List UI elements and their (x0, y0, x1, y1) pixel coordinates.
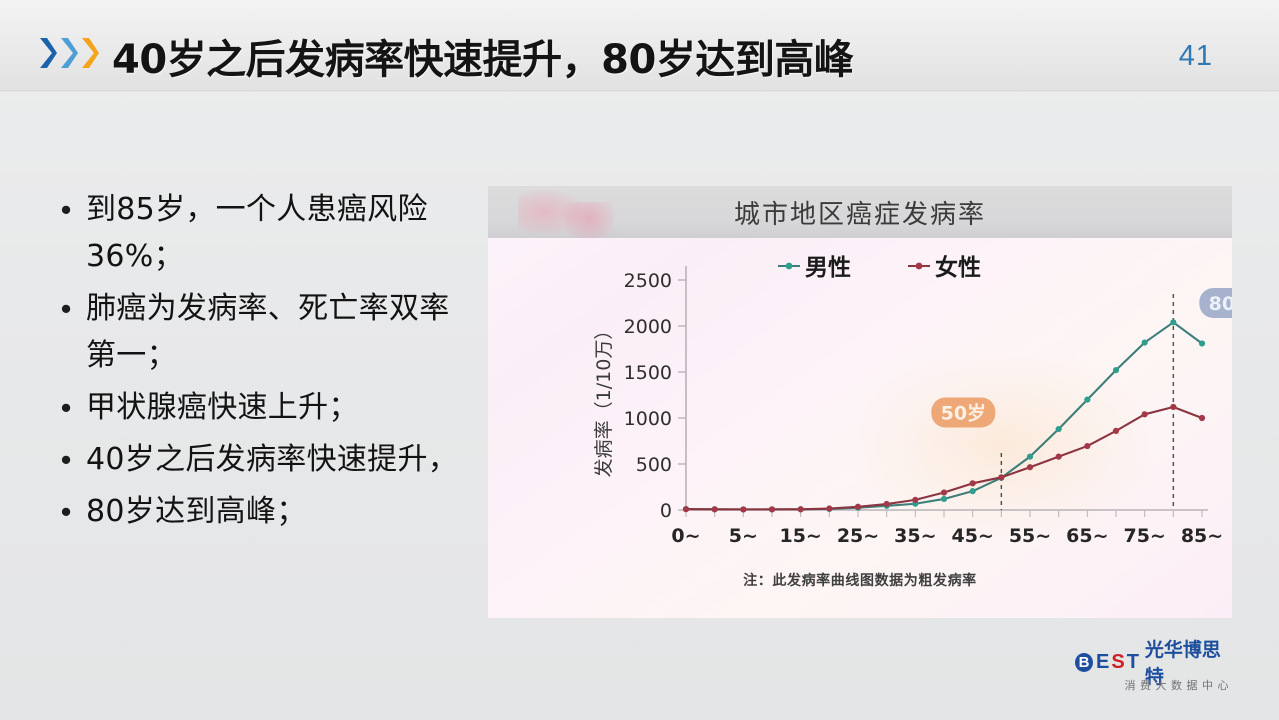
svg-text:15~: 15~ (779, 525, 821, 547)
bullet-marker: • (46, 384, 86, 431)
svg-text:80岁: 80岁 (1209, 292, 1232, 315)
list-item: • 80岁达到高峰； (46, 488, 476, 535)
bullet-text: 甲状腺癌快速上升； (86, 384, 476, 431)
incidence-rate-line-chart: 发病率（1/10万）050010001500200025000~5~15~25~… (488, 238, 1232, 570)
svg-text:发病率（1/10万）: 发病率（1/10万） (593, 321, 615, 478)
svg-text:0: 0 (660, 500, 672, 522)
bullet-marker: • (46, 186, 86, 233)
bullet-text: 40岁之后发病率快速提升， (86, 436, 476, 483)
chevron-right-icon-3 (80, 36, 100, 70)
svg-text:1500: 1500 (624, 362, 672, 384)
list-item: • 肺癌为发病率、死亡率双率第一； (46, 285, 476, 379)
logo-letter-t: T (1127, 651, 1138, 674)
bullet-marker: • (46, 488, 86, 535)
chevron-group (38, 36, 100, 70)
bullet-text: 肺癌为发病率、死亡率双率第一； (86, 285, 476, 379)
svg-text:25~: 25~ (837, 525, 879, 547)
chevron-right-icon-2 (59, 36, 79, 70)
svg-text:男性: 男性 (805, 255, 851, 281)
svg-text:75~: 75~ (1123, 525, 1165, 547)
svg-text:2000: 2000 (624, 316, 672, 338)
list-item: • 到85岁，一个人患癌风险36%； (46, 186, 476, 280)
svg-text:0~: 0~ (671, 525, 700, 547)
svg-text:女性: 女性 (935, 254, 981, 281)
svg-text:5~: 5~ (729, 525, 758, 547)
logo-wordmark: B E S T 光华博思特 (1075, 650, 1235, 674)
svg-text:65~: 65~ (1066, 525, 1108, 547)
header-divider (0, 90, 1279, 93)
svg-text:50岁: 50岁 (941, 401, 986, 424)
slide-header: 40岁之后发病率快速提升，80岁达到高峰 41 (0, 0, 1279, 92)
svg-text:55~: 55~ (1009, 525, 1051, 547)
list-item: • 40岁之后发病率快速提升， (46, 436, 476, 483)
logo-tagline: 消费大数据中心 (1075, 677, 1235, 693)
bullet-marker: • (46, 436, 86, 483)
svg-text:1000: 1000 (624, 408, 672, 430)
logo-badge: B (1075, 653, 1093, 672)
logo-letter-e: E (1096, 651, 1108, 674)
list-item: • 甲状腺癌快速上升； (46, 384, 476, 431)
bullet-text: 到85岁，一个人患癌风险36%； (86, 186, 476, 280)
logo-letter-s: S (1111, 651, 1123, 674)
svg-text:45~: 45~ (951, 525, 993, 547)
page-title: 40岁之后发病率快速提升，80岁达到高峰 (112, 27, 853, 85)
bullet-marker: • (46, 285, 86, 332)
brand-logo: B E S T 光华博思特 消费大数据中心 (1075, 650, 1235, 693)
chart-card: 城市地区癌症发病率 发病率（1/10万）05001000150020002500… (488, 186, 1232, 618)
chart-title: 城市地区癌症发病率 (488, 186, 1232, 238)
svg-text:2500: 2500 (624, 270, 672, 292)
svg-text:85~: 85~ (1181, 525, 1223, 547)
bullet-list: • 到85岁，一个人患癌风险36%； • 肺癌为发病率、死亡率双率第一； • 甲… (46, 186, 476, 540)
chart-footnote: 注：此发病率曲线图数据为粗发病率 (488, 570, 1232, 590)
chevron-right-icon-1 (38, 36, 58, 70)
svg-text:500: 500 (636, 454, 672, 476)
bullet-text: 80岁达到高峰； (86, 488, 476, 535)
svg-text:35~: 35~ (894, 525, 936, 547)
page-number: 41 (1179, 40, 1213, 73)
